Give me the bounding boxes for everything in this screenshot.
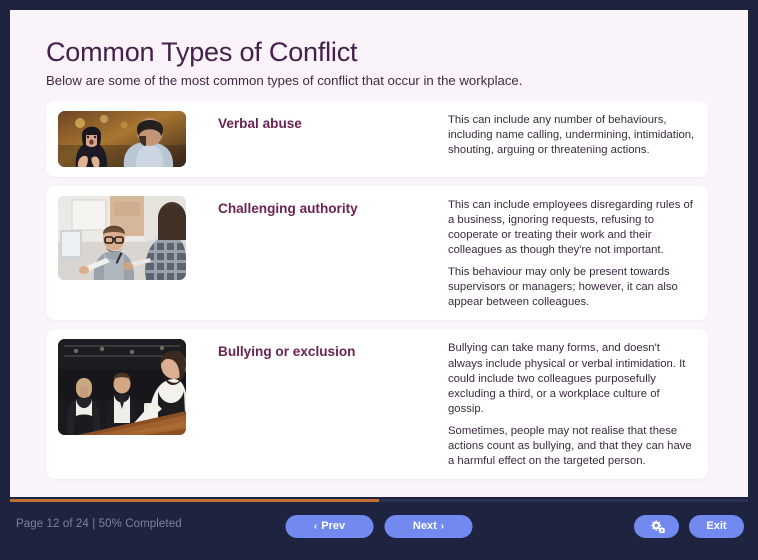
row-body-cell: This can include any number of behaviour… bbox=[448, 111, 696, 158]
conflict-types-list: Verbal abuse This can include any number… bbox=[46, 101, 708, 480]
row-paragraph: This behaviour may only be present towar… bbox=[448, 265, 696, 310]
prev-button-label: Prev bbox=[321, 521, 345, 532]
list-item[interactable]: Challenging authority This can include e… bbox=[46, 186, 708, 321]
next-button[interactable]: Next › bbox=[385, 515, 473, 538]
row-paragraph: This can include employees disregarding … bbox=[448, 198, 696, 259]
row-image-challenging-authority bbox=[58, 196, 186, 280]
course-player-window: Common Types of Conflict Below are some … bbox=[0, 0, 758, 560]
row-title-cell: Bullying or exclusion bbox=[186, 339, 448, 361]
page-title: Common Types of Conflict bbox=[46, 36, 720, 68]
slide-content-panel: Common Types of Conflict Below are some … bbox=[10, 10, 748, 497]
chevron-left-icon: ‹ bbox=[314, 522, 317, 532]
row-body-cell: This can include employees disregarding … bbox=[448, 196, 696, 311]
list-item[interactable]: Verbal abuse This can include any number… bbox=[46, 101, 708, 177]
row-title-cell: Verbal abuse bbox=[186, 111, 448, 133]
row-body-cell: Bullying can take many forms, and doesn'… bbox=[448, 339, 696, 469]
footer-nav-group: ‹ Prev Next › bbox=[286, 515, 473, 538]
exit-button[interactable]: Exit bbox=[689, 515, 744, 538]
chevron-right-icon: › bbox=[441, 522, 444, 532]
list-item[interactable]: Bullying or exclusion Bullying can take … bbox=[46, 329, 708, 479]
cogs-icon bbox=[649, 520, 665, 533]
row-title: Challenging authority bbox=[218, 201, 448, 218]
row-image-bullying-exclusion bbox=[58, 339, 186, 435]
player-footer: Page 12 of 24 | 50% Completed ‹ Prev Nex… bbox=[0, 502, 758, 560]
row-title: Verbal abuse bbox=[218, 116, 448, 133]
row-paragraph: This can include any number of behaviour… bbox=[448, 113, 696, 158]
row-paragraph: Bullying can take many forms, and doesn'… bbox=[448, 341, 696, 417]
row-title: Bullying or exclusion bbox=[218, 344, 448, 361]
page-status-text: Page 12 of 24 | 50% Completed bbox=[16, 518, 182, 530]
next-button-label: Next bbox=[413, 521, 437, 532]
prev-button[interactable]: ‹ Prev bbox=[286, 515, 374, 538]
row-paragraph: Sometimes, people may not realise that t… bbox=[448, 424, 696, 469]
page-subtitle: Below are some of the most common types … bbox=[46, 72, 720, 89]
exit-button-label: Exit bbox=[706, 521, 726, 532]
footer-actions-group: Exit bbox=[634, 515, 744, 538]
settings-button[interactable] bbox=[634, 515, 679, 538]
row-title-cell: Challenging authority bbox=[186, 196, 448, 218]
row-image-verbal-abuse bbox=[58, 111, 186, 167]
